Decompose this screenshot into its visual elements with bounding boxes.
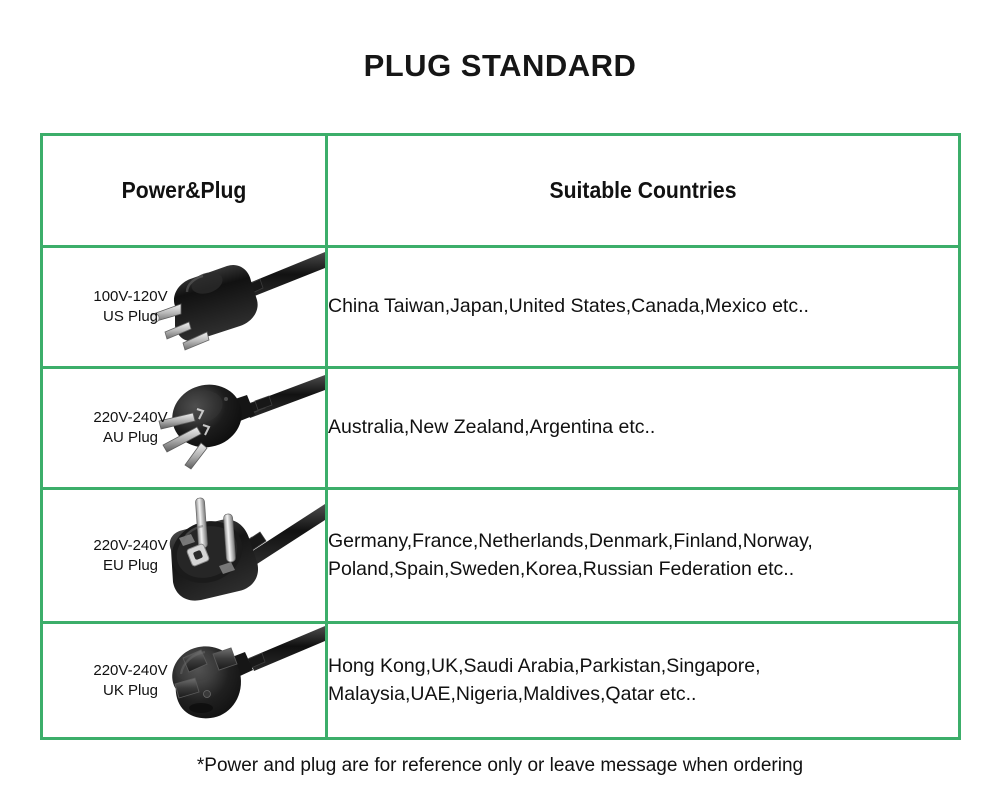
plug-name-au: AU Plug: [73, 428, 188, 448]
countries-cell-au: Australia,New Zealand,Argentina etc..: [327, 368, 960, 489]
plug-voltage-au: 220V-240V: [73, 408, 188, 428]
plug-label-us: 100V-120V US Plug: [73, 287, 188, 328]
table-row: 220V-240V AU Plug: [42, 368, 960, 489]
plug-name-eu: EU Plug: [73, 556, 188, 576]
countries-line: China Taiwan,Japan,United States,Canada,…: [328, 293, 958, 321]
plug-cell-au: 220V-240V AU Plug: [42, 368, 327, 489]
countries-cell-uk: Hong Kong,UK,Saudi Arabia,Parkistan,Sing…: [327, 623, 960, 739]
countries-cell-us: China Taiwan,Japan,United States,Canada,…: [327, 247, 960, 368]
plug-cell-eu: 220V-240V EU Plug: [42, 489, 327, 623]
countries-line: Australia,New Zealand,Argentina etc..: [328, 414, 958, 442]
countries-line: Poland,Spain,Sweden,Korea,Russian Federa…: [328, 556, 958, 584]
header-cell-suitable-countries: Suitable Countries: [327, 135, 960, 247]
plug-label-uk: 220V-240V UK Plug: [73, 660, 188, 701]
plug-standard-table: Power&Plug Suitable Countries 100V-120V …: [40, 133, 961, 740]
plug-name-uk: UK Plug: [73, 681, 188, 701]
countries-line: Malaysia,UAE,Nigeria,Maldives,Qatar etc.…: [328, 681, 958, 709]
table-row: 220V-240V EU Plug: [42, 489, 960, 623]
page-title: PLUG STANDARD: [0, 48, 1000, 84]
plug-label-au: 220V-240V AU Plug: [73, 408, 188, 449]
table-row: 220V-240V UK Plug: [42, 623, 960, 739]
plug-voltage-eu: 220V-240V: [73, 535, 188, 555]
plug-voltage-us: 100V-120V: [73, 287, 188, 307]
plug-label-eu: 220V-240V EU Plug: [73, 535, 188, 576]
plug-voltage-uk: 220V-240V: [73, 660, 188, 680]
plug-cell-uk: 220V-240V UK Plug: [42, 623, 327, 739]
countries-line: Germany,France,Netherlands,Denmark,Finla…: [328, 528, 958, 556]
countries-line: Hong Kong,UK,Saudi Arabia,Parkistan,Sing…: [328, 653, 958, 681]
header-cell-power-plug: Power&Plug: [42, 135, 327, 247]
header-label-power-plug: Power&Plug: [54, 177, 313, 204]
footnote-text: *Power and plug are for reference only o…: [0, 755, 1000, 777]
header-label-suitable-countries: Suitable Countries: [353, 177, 933, 204]
countries-cell-eu: Germany,France,Netherlands,Denmark,Finla…: [327, 489, 960, 623]
table-header-row: Power&Plug Suitable Countries: [42, 135, 960, 247]
plug-name-us: US Plug: [73, 307, 188, 327]
table-row: 100V-120V US Plug: [42, 247, 960, 368]
plug-cell-us: 100V-120V US Plug: [42, 247, 327, 368]
